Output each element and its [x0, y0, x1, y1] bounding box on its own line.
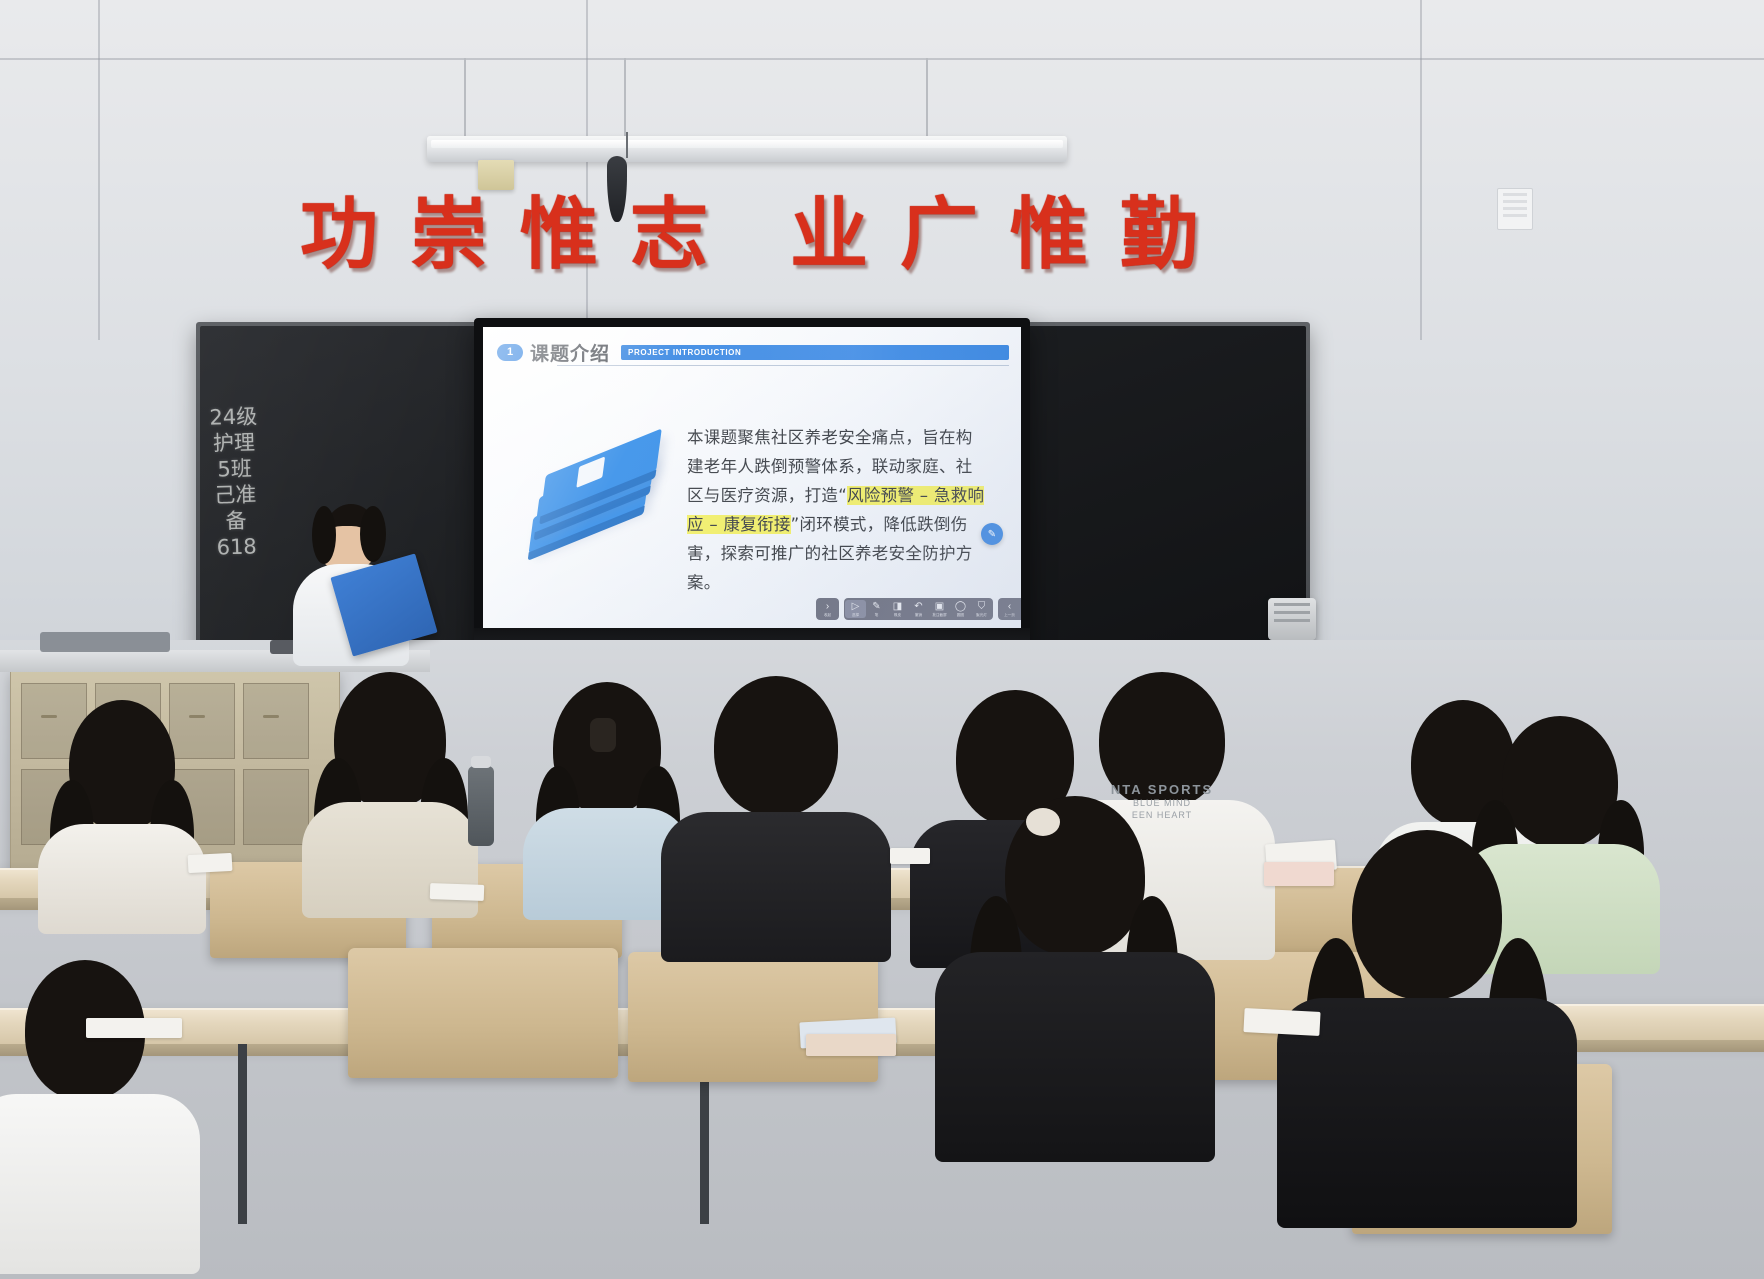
select-tool[interactable]: ▷ 选择 — [845, 600, 866, 618]
undo-icon: ↶ — [914, 602, 922, 612]
chevron-right-icon: › — [826, 602, 829, 612]
prev-page-label: 上一页 — [1004, 613, 1015, 617]
shirt-line-1: NTA SPORTS — [1111, 782, 1213, 797]
cursor-icon: ▷ — [852, 602, 860, 612]
slide-line-3: 区与医疗资源，打造“ — [687, 486, 847, 505]
shape-tool-label: 圆圈 — [957, 613, 964, 617]
toolbar-collapse-label: 收起 — [824, 613, 831, 617]
pen-tool-label: 笔 — [875, 613, 879, 617]
chair-4 — [348, 948, 618, 1078]
student-1 — [42, 700, 202, 900]
whiteboard-toolbar[interactable]: › 收起 ▷ 选择 ✎ 笔 ◨ 橡皮 — [816, 598, 1021, 620]
slide-line-2: 建老年人跌倒预警体系，联动家庭、社 — [687, 457, 973, 476]
wall-seam-vertical-1 — [586, 0, 588, 340]
student-9 — [960, 796, 1190, 1136]
paper-5 — [1264, 862, 1334, 886]
interactive-display[interactable]: 1 课题介绍 PROJECT INTRODUCTION 本课题聚焦社区养老安全痛… — [474, 318, 1030, 658]
slide-header: 1 课题介绍 PROJECT INTRODUCTION — [497, 340, 1009, 364]
hanging-microphone — [614, 152, 640, 224]
student-9-hair-tie — [1026, 808, 1060, 836]
prev-page-button[interactable]: ‹ 上一页 — [999, 600, 1020, 618]
select-tool-label: 选择 — [852, 613, 859, 617]
eraser-tool-label: 橡皮 — [894, 613, 901, 617]
student-10 — [1302, 830, 1552, 1210]
shape-tool[interactable]: ◯ 圆圈 — [950, 600, 971, 618]
student-4 — [686, 676, 866, 926]
slide-line-1: 本课题聚焦社区养老安全痛点，旨在构 — [687, 428, 973, 447]
paper-7 — [806, 1034, 896, 1056]
desk-leg-1 — [238, 1044, 247, 1224]
paper-2 — [430, 883, 485, 901]
toolbar-collapse-button[interactable]: › 收起 — [817, 600, 838, 618]
chair-5 — [628, 952, 878, 1082]
pen-tool[interactable]: ✎ 笔 — [866, 600, 887, 618]
wall-speaker — [1268, 598, 1316, 640]
desk-equipment-1 — [40, 632, 170, 652]
page-indicator: 1 / 16 页码 — [1020, 600, 1021, 618]
slide-line-6: ”闭环模式，降低 — [791, 515, 917, 534]
screenshot-tool-label: 批注截屏 — [932, 613, 946, 617]
stacked-books-icon — [527, 427, 677, 555]
eraser-icon: ◨ — [893, 602, 902, 612]
slide-body-text: 本课题聚焦社区养老安全痛点，旨在构建老年人跌倒预警体系，联动家庭、社区与医疗资源… — [687, 423, 987, 597]
student-3-hair-clip — [590, 718, 616, 752]
spotlight-tool-label: 聚光灯 — [976, 613, 987, 617]
slide-floating-action-button[interactable]: ✎ — [981, 523, 1003, 545]
projector-mount-box — [478, 160, 514, 190]
student-3 — [532, 682, 682, 894]
circle-icon: ◯ — [955, 602, 966, 612]
paper-3 — [890, 848, 930, 864]
pen-icon: ✎ — [872, 602, 880, 612]
slide-number-badge: 1 — [497, 344, 523, 361]
wall-vent — [1497, 188, 1533, 230]
eraser-tool[interactable]: ◨ 橡皮 — [887, 600, 908, 618]
spotlight-tool[interactable]: ⛉ 聚光灯 — [971, 600, 992, 618]
paper-1 — [188, 853, 233, 873]
slide-header-rule — [557, 365, 1009, 366]
slide-title-en: PROJECT INTRODUCTION — [621, 348, 741, 357]
paper-8 — [1243, 1008, 1320, 1036]
paper-9 — [86, 1018, 182, 1038]
undo-tool-label: 撤销 — [915, 613, 922, 617]
slide-highlight-1: 风险预警 – 急 — [847, 486, 951, 505]
wall-seam-vertical-2 — [1420, 0, 1422, 340]
slide-title-bar: PROJECT INTRODUCTION — [621, 345, 1009, 360]
wall-seam-horizontal — [0, 58, 1764, 60]
toolbar-pager-group[interactable]: ‹ 上一页 1 / 16 页码 › 下一页 — [998, 598, 1021, 620]
water-bottle — [468, 766, 494, 846]
shield-icon: ⛉ — [978, 602, 986, 612]
student-2 — [310, 672, 470, 892]
light-wire-1 — [464, 58, 466, 138]
toolbar-collapse-group[interactable]: › 收起 — [816, 598, 839, 620]
toolbar-tools-group[interactable]: ▷ 选择 ✎ 笔 ◨ 橡皮 ↶ 撤销 — [844, 598, 993, 620]
screenshot-icon: ▣ — [935, 602, 944, 612]
light-wire-2 — [926, 58, 928, 136]
ceiling-light-bar — [427, 136, 1067, 162]
classroom-scene: 功 崇 惟 志 业 广 惟 勤 24级护理5班己准备618 1 课题介绍 PRO… — [0, 0, 1764, 1279]
blackboard-chalk-note: 24级护理5班己准备618 — [206, 403, 264, 560]
display-screen[interactable]: 1 课题介绍 PROJECT INTRODUCTION 本课题聚焦社区养老安全痛… — [483, 327, 1021, 628]
slide-title-cn: 课题介绍 — [530, 339, 610, 366]
chevron-left-icon: ‹ — [1008, 602, 1011, 612]
student-11 — [0, 960, 180, 1260]
wall-seam-vertical-3 — [98, 0, 100, 340]
undo-tool[interactable]: ↶ 撤销 — [908, 600, 929, 618]
screenshot-tool[interactable]: ▣ 批注截屏 — [929, 600, 950, 618]
